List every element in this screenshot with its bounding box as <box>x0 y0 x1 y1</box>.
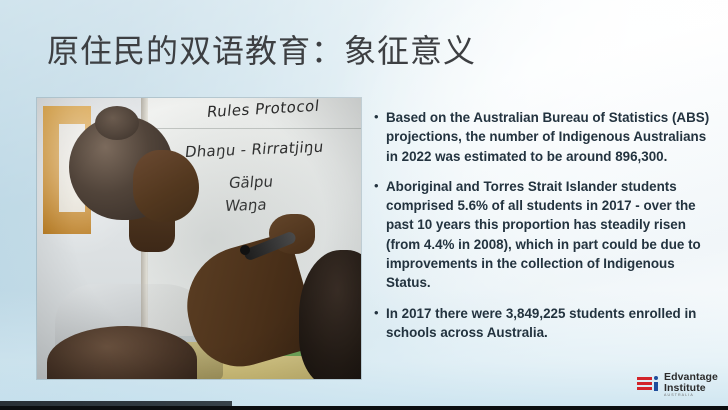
logo-mark-icon <box>637 375 659 395</box>
logo-line-3: AUSTRALIA <box>664 394 718 398</box>
bullet-marker-icon: • <box>374 108 386 166</box>
edvantage-institute-logo: Edvantage Institute AUSTRALIA <box>637 372 718 398</box>
bullet-text: Based on the Australian Bureau of Statis… <box>386 108 714 166</box>
list-item: • Based on the Australian Bureau of Stat… <box>374 108 714 166</box>
bullet-text: In 2017 there were 3,849,225 students en… <box>386 304 714 343</box>
list-item: • In 2017 there were 3,849,225 students … <box>374 304 714 343</box>
bottom-bar <box>0 406 728 410</box>
logo-wordmark: Edvantage Institute AUSTRALIA <box>664 372 718 398</box>
classroom-photo: Rules Protocol Dhaŋu - Rirratjiŋu Gälpu … <box>37 98 361 379</box>
list-item: • Aboriginal and Torres Strait Islander … <box>374 177 714 293</box>
bullet-marker-icon: • <box>374 304 386 343</box>
bullet-text: Aboriginal and Torres Strait Islander st… <box>386 177 714 293</box>
page-title: 原住民的双语教育：象征意义 <box>47 33 476 71</box>
bullet-list: • Based on the Australian Bureau of Stat… <box>374 108 714 353</box>
photo-vignette <box>37 98 361 379</box>
bullet-marker-icon: • <box>374 177 386 293</box>
presentation-slide: 原住民的双语教育：象征意义 Rules Protocol Dhaŋu - Rir… <box>0 0 728 410</box>
